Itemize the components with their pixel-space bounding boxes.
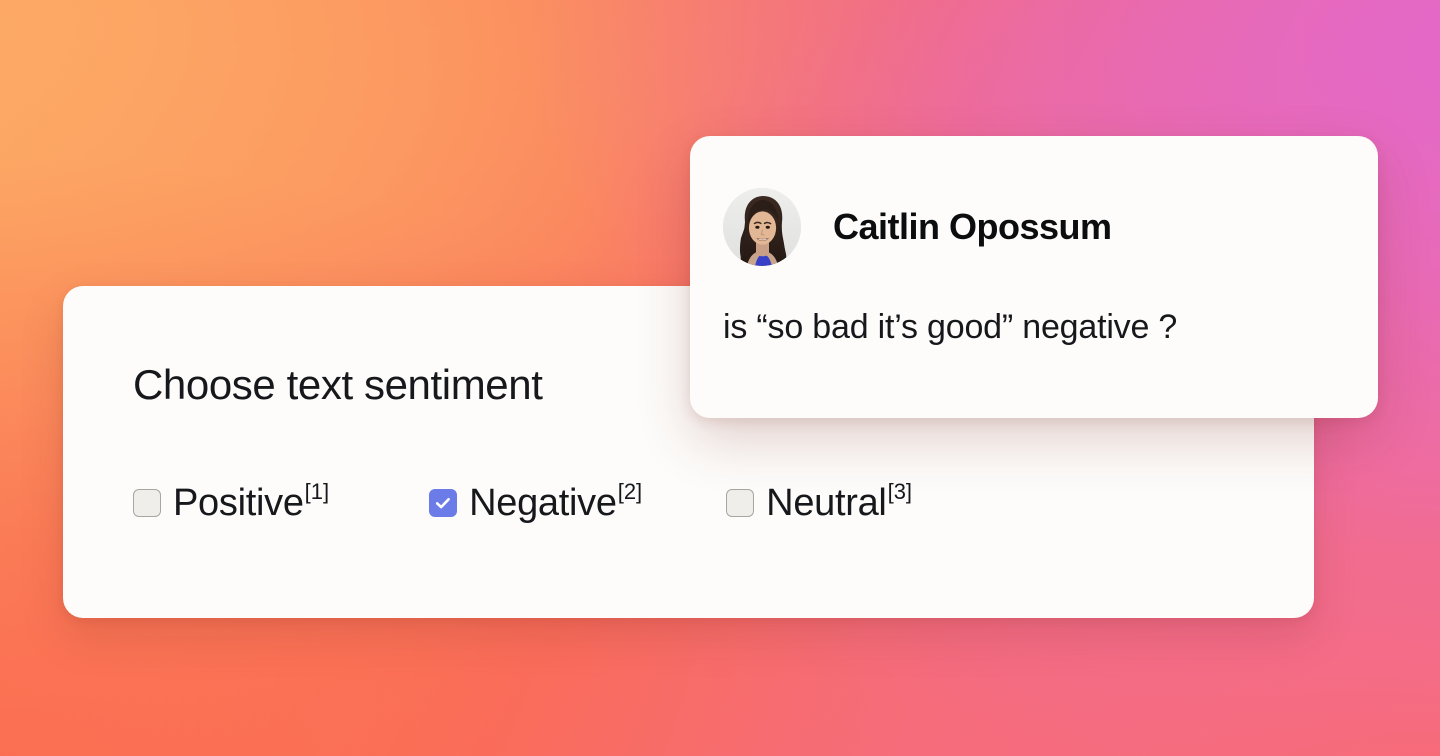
- comment-card: Caitlin Opossum is “so bad it’s good” ne…: [690, 136, 1378, 418]
- comment-header: Caitlin Opossum: [723, 188, 1112, 266]
- option-neutral[interactable]: Neutral[3]: [726, 484, 912, 522]
- option-label-positive: Positive: [173, 484, 304, 522]
- comment-text: is “so bad it’s good” negative ?: [723, 308, 1177, 347]
- option-label-negative: Negative: [469, 484, 617, 522]
- option-shortcut-negative: [2]: [618, 479, 642, 505]
- page-title: Choose text sentiment: [133, 361, 543, 409]
- option-negative[interactable]: Negative[2]: [429, 484, 642, 522]
- option-positive[interactable]: Positive[1]: [133, 484, 329, 522]
- option-shortcut-neutral: [3]: [888, 479, 912, 505]
- option-label-neutral: Neutral: [766, 484, 886, 522]
- comment-author-name: Caitlin Opossum: [833, 206, 1112, 248]
- checkbox-unchecked-icon[interactable]: [726, 489, 754, 517]
- checkbox-checked-icon[interactable]: [429, 489, 457, 517]
- checkbox-unchecked-icon[interactable]: [133, 489, 161, 517]
- avatar: [723, 188, 801, 266]
- sentiment-options-group: Positive[1] Negative[2] Neutral[3]: [133, 484, 912, 522]
- option-shortcut-positive: [1]: [305, 479, 329, 505]
